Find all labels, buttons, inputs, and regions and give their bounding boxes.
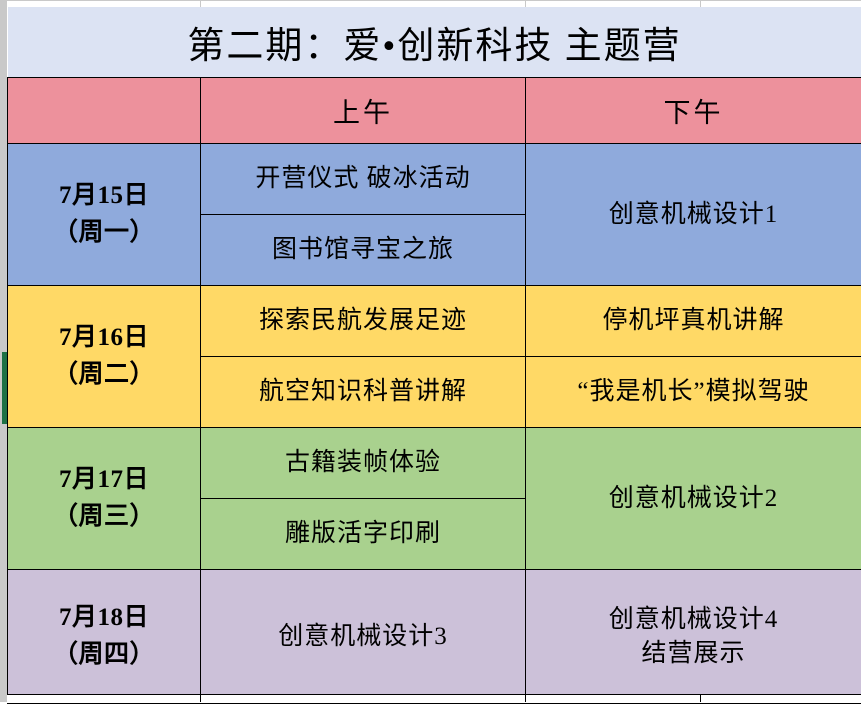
header-cell-morning: 上午 <box>201 78 526 144</box>
background-gridline-vertical <box>700 0 701 7</box>
table-row: 7月16日 （周二） 探索民航发展足迹 停机坪真机讲解 <box>8 286 861 357</box>
day-date: 7月15日 <box>59 182 149 209</box>
spreadsheet-canvas: 第二期：爱•创新科技 主题营 上午 下午 7月15日 （周一） 开营仪式 破冰活… <box>0 0 861 702</box>
session-cell-morning-1: 探索民航发展足迹 <box>201 286 526 357</box>
day-label-cell: 7月16日 （周二） <box>8 286 201 428</box>
session-cell-morning-2: 图书馆寻宝之旅 <box>201 215 526 286</box>
day-weekday: （周一） <box>8 215 200 251</box>
header-cell-day <box>8 78 201 144</box>
session-line-1: 创意机械设计4 <box>609 606 779 633</box>
selected-row-marker <box>2 352 7 424</box>
table-row: 7月17日 （周三） 古籍装帧体验 创意机械设计2 <box>8 428 861 499</box>
session-cell-afternoon-2: “我是机长”模拟驾驶 <box>526 357 861 428</box>
session-line-2: 结营展示 <box>526 637 861 671</box>
row-header-gutter <box>0 0 7 702</box>
day-weekday: （周二） <box>8 357 200 393</box>
session-cell-morning: 创意机械设计3 <box>201 570 526 704</box>
next-row-divider <box>700 694 701 702</box>
column-header-row: 上午 下午 <box>8 78 861 144</box>
background-gridline-horizontal <box>0 0 861 1</box>
day-date: 7月17日 <box>59 466 149 493</box>
title-row: 第二期：爱•创新科技 主题营 <box>8 7 861 78</box>
session-cell-morning-2: 雕版活字印刷 <box>201 499 526 570</box>
table-row: 7月15日 （周一） 开营仪式 破冰活动 创意机械设计1 <box>8 144 861 215</box>
day-date: 7月16日 <box>59 324 149 351</box>
day-date: 7月18日 <box>59 604 149 631</box>
session-cell-morning-2: 航空知识科普讲解 <box>201 357 526 428</box>
session-cell-morning-1: 古籍装帧体验 <box>201 428 526 499</box>
day-label-cell: 7月15日 （周一） <box>8 144 201 286</box>
header-cell-afternoon: 下午 <box>526 78 861 144</box>
table-row: 7月18日 （周四） 创意机械设计3 创意机械设计4 结营展示 <box>8 570 861 704</box>
background-gridline-vertical <box>200 0 201 7</box>
day-weekday: （周三） <box>8 499 200 535</box>
session-cell-afternoon: 创意机械设计1 <box>526 144 861 286</box>
session-cell-afternoon-1: 停机坪真机讲解 <box>526 286 861 357</box>
next-row-divider <box>200 694 201 702</box>
day-label-cell: 7月18日 （周四） <box>8 570 201 704</box>
day-weekday: （周四） <box>8 637 200 673</box>
schedule-table: 第二期：爱•创新科技 主题营 上午 下午 7月15日 （周一） 开营仪式 破冰活… <box>7 7 861 704</box>
session-cell-afternoon: 创意机械设计2 <box>526 428 861 570</box>
next-row-divider <box>525 694 526 702</box>
background-gridline-vertical <box>525 0 526 7</box>
session-cell-morning-1: 开营仪式 破冰活动 <box>201 144 526 215</box>
session-cell-afternoon: 创意机械设计4 结营展示 <box>526 570 861 704</box>
day-label-cell: 7月17日 （周三） <box>8 428 201 570</box>
page-title: 第二期：爱•创新科技 主题营 <box>8 7 861 78</box>
